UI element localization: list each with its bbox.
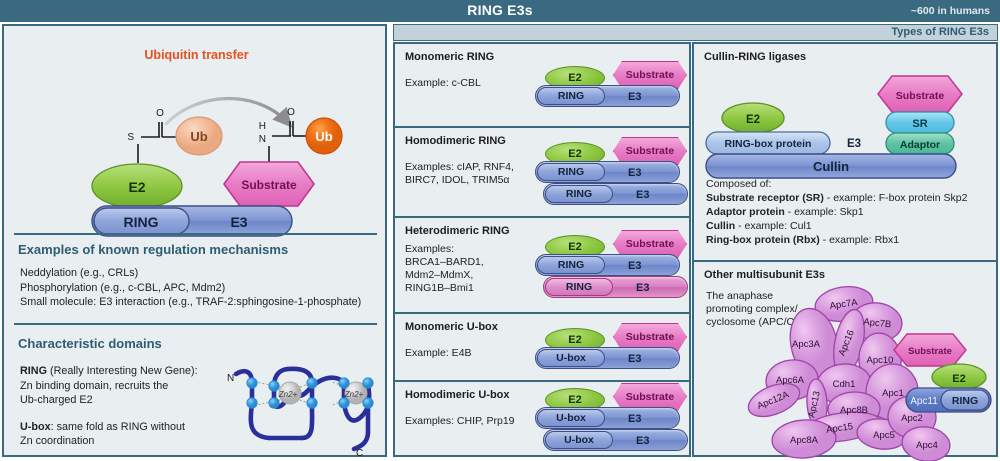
- sr-label: SR: [912, 118, 927, 130]
- ring-definition-line3: Ub-charged E2: [20, 393, 235, 408]
- e3-capsule: RINGE3: [543, 276, 688, 298]
- apc-subunit-label: Apc8B: [840, 405, 868, 416]
- divider-domains: [14, 323, 377, 325]
- component-example: - example: Cul1: [735, 220, 811, 232]
- apc-subunit-label: Apc1: [882, 388, 904, 399]
- regulation-list: Neddylation (e.g., CRLs) Phosphorylation…: [20, 266, 361, 310]
- regulation-item: Phosphorylation (e.g., c-CBL, APC, Mdm2): [20, 281, 361, 296]
- e3-label: E3: [230, 214, 247, 230]
- apc-substrate-label: Substrate: [908, 346, 952, 357]
- type-row: Heterodimeric RINGExamples:BRCA1–BARD1,M…: [395, 218, 689, 314]
- type-example-line: RING1B–Bmi1: [405, 282, 484, 295]
- crl-section: Cullin-RING ligases: [694, 44, 996, 262]
- multisubunit-column: Cullin-RING ligases: [692, 42, 998, 457]
- type-examples: Examples:BRCA1–BARD1,Mdm2–MdmX,RING1B–Bm…: [405, 243, 484, 295]
- spacer: [20, 408, 235, 420]
- type-example-line: BRCA1–BARD1,: [405, 256, 484, 269]
- type-title: Monomeric RING: [405, 51, 494, 63]
- apc11-label: Apc11: [910, 396, 938, 407]
- catalytic-domain-label: RING: [537, 163, 605, 181]
- c-terminus-label: C: [356, 448, 363, 459]
- type-row: Homodimeric U-boxExamples: CHIP, Prp19E2…: [395, 382, 689, 455]
- type-title: Heterodimeric RING: [405, 225, 510, 237]
- page-title: RING E3s: [0, 0, 1000, 22]
- type-example-line: Examples: CHIP, Prp19: [405, 415, 515, 428]
- composed-of-label: Composed of:: [706, 177, 967, 191]
- regulation-item: Neddylation (e.g., CRLs): [20, 266, 361, 281]
- type-diagram: E2SubstrateU-boxE3: [535, 314, 690, 382]
- catalytic-domain-label: U-box: [537, 409, 605, 427]
- type-diagram: E2SubstrateU-boxE3U-boxE3: [535, 382, 690, 455]
- regulation-heading: Examples of known regulation mechanisms: [18, 242, 288, 257]
- ubox-definition-line2: Zn coordination: [20, 434, 235, 449]
- type-title: Homodimeric U-box: [405, 389, 510, 401]
- apc-subunit-label: Apc4: [916, 440, 938, 451]
- type-example-line: Example: E4B: [405, 347, 472, 360]
- substrate-label: Substrate: [241, 178, 297, 192]
- ubox-definition: U-box: same fold as RING without: [20, 420, 235, 435]
- e3-body-label: E3: [628, 353, 641, 365]
- apc-subunit-label: Apc3A: [792, 339, 821, 350]
- divider-regulation: [14, 233, 377, 235]
- types-banner: Types of RING E3s: [393, 24, 998, 41]
- ring-term-rest: (Really Interesting New Gene):: [47, 365, 198, 377]
- crl-composition: Composed of: Substrate receptor (SR) - e…: [706, 177, 967, 247]
- ring-crossbrace-diagram: Zn2+ Zn2+ N C: [222, 356, 382, 461]
- catalytic-domain-label: RING: [537, 87, 605, 105]
- e3-body-label: E3: [628, 413, 641, 425]
- e3-body-label: E3: [628, 91, 641, 103]
- zinc-coordination-svg: Zn2+ Zn2+ N C: [222, 356, 382, 461]
- type-examples: Examples: cIAP, RNF4,BIRC7, IDOL, TRIM5α: [405, 161, 514, 187]
- figure-header: RING E3s ~600 in humans: [0, 0, 1000, 22]
- crl-diagram: Substrate SR Adaptor E2 RING-box protein…: [696, 66, 996, 176]
- ub-acceptor-label: Ub: [315, 129, 332, 144]
- atom-label-sulfur: S: [127, 132, 134, 143]
- e3-body-label: E3: [636, 435, 649, 447]
- apc-subunit-label: Apc5: [873, 430, 895, 441]
- apc-subunit-label: Apc8A: [790, 435, 819, 446]
- type-title: Monomeric U-box: [405, 321, 498, 333]
- apc-subunit-label: Apc10: [867, 355, 894, 366]
- e3-body-label: E3: [628, 167, 641, 179]
- ubiquitin-transfer-diagram: S O Ub N H O Ub: [4, 66, 389, 231]
- regulation-item: Small molecule: E3 interaction (e.g., TR…: [20, 295, 361, 310]
- ubox-term-rest: : same fold as RING without: [51, 421, 185, 433]
- atom-label-oxygen-donor: O: [156, 108, 164, 119]
- ubox-term: U-box: [20, 421, 51, 433]
- transfer-chemistry-svg: S O Ub N H O Ub: [4, 66, 389, 231]
- crl-e2-label: E2: [746, 114, 760, 126]
- atom-label-nitrogen: N: [259, 134, 266, 145]
- component-example: - example: Skp1: [785, 206, 864, 218]
- zinc-label: Zn2+: [278, 390, 298, 399]
- apc-subunit-label: Cdh1: [833, 379, 856, 390]
- types-column: Monomeric RINGExample: c-CBLE2SubstrateR…: [393, 42, 691, 457]
- type-examples: Examples: CHIP, Prp19: [405, 415, 515, 428]
- apc-subunit-label: Apc2: [901, 413, 923, 424]
- atom-label-oxygen-acceptor: O: [287, 107, 295, 118]
- component-example: - example: Rbx1: [820, 234, 899, 246]
- figure-root: RING E3s ~600 in humans Ubiquitin transf…: [0, 0, 1000, 459]
- catalytic-domain-label: U-box: [537, 349, 605, 367]
- e3-capsule: U-boxE3: [535, 347, 680, 369]
- crl-component: Ring-box protein (Rbx) - example: Rbx1: [706, 233, 967, 247]
- atom-label-hydrogen: H: [259, 121, 266, 132]
- domains-description: RING (Really Interesting New Gene): Zn b…: [20, 364, 235, 449]
- cullin-label: Cullin: [813, 159, 849, 174]
- type-example-line: Mdm2–MdmX,: [405, 269, 484, 282]
- type-diagram: E2SubstrateRINGE3RINGE3: [535, 128, 690, 218]
- component-example: - example: F-box protein Skp2: [824, 192, 968, 204]
- catalytic-domain-label: U-box: [545, 431, 613, 449]
- rbx-label: RING-box protein: [725, 138, 812, 150]
- type-title: Homodimeric RING: [405, 135, 506, 147]
- ring-definition: RING (Really Interesting New Gene):: [20, 364, 235, 379]
- e3-capsule: RINGE3: [543, 183, 688, 205]
- apc-complex-diagram: Apc7A Apc7B Apc3A Apc16 Apc10 Apc6A Cdh1…: [694, 272, 994, 452]
- type-row: Monomeric U-boxExample: E4BE2SubstrateU-…: [395, 314, 689, 382]
- type-examples: Example: E4B: [405, 347, 472, 360]
- type-diagram: E2SubstrateRINGE3: [535, 44, 690, 128]
- e3-body-label: E3: [636, 282, 649, 294]
- type-examples: Example: c-CBL: [405, 77, 481, 90]
- ubiquitin-transfer-title: Ubiquitin transfer: [4, 48, 389, 62]
- e2-label: E2: [128, 179, 145, 195]
- left-panel: Ubiquitin transfer: [2, 24, 387, 457]
- component-name: Substrate receptor (SR): [706, 192, 824, 204]
- catalytic-domain-label: RING: [545, 185, 613, 203]
- ring-definition-line2: Zn binding domain, recruits the: [20, 379, 235, 394]
- apc-ring-label: RING: [952, 395, 978, 407]
- apc-e2-label: E2: [952, 373, 965, 385]
- e3-body-label: E3: [628, 260, 641, 272]
- crl-component: Adaptor protein - example: Skp1: [706, 205, 967, 219]
- ring-label: RING: [124, 214, 159, 230]
- type-example-line: BIRC7, IDOL, TRIM5α: [405, 174, 514, 187]
- component-name: Adaptor protein: [706, 206, 785, 218]
- crl-component: Substrate receptor (SR) - example: F-box…: [706, 191, 967, 205]
- type-row: Monomeric RINGExample: c-CBLE2SubstrateR…: [395, 44, 689, 128]
- e3-capsule: RINGE3: [535, 161, 680, 183]
- e3-body-label: E3: [636, 189, 649, 201]
- type-example-line: Examples: cIAP, RNF4,: [405, 161, 514, 174]
- type-example-line: Examples:: [405, 243, 484, 256]
- e3-capsule: U-boxE3: [535, 407, 680, 429]
- type-example-line: Example: c-CBL: [405, 77, 481, 90]
- component-name: Cullin: [706, 220, 735, 232]
- crl-substrate-label: Substrate: [896, 90, 945, 102]
- type-diagram: E2SubstrateRINGE3RINGE3: [535, 218, 690, 314]
- ub-donor-label: Ub: [190, 129, 207, 144]
- e3-capsule: RINGE3: [535, 254, 680, 276]
- e3-capsule: U-boxE3: [543, 429, 688, 451]
- component-name: Ring-box protein (Rbx): [706, 234, 820, 246]
- domains-heading: Characteristic domains: [18, 336, 162, 351]
- type-row: Homodimeric RINGExamples: cIAP, RNF4,BIR…: [395, 128, 689, 218]
- ring-term: RING: [20, 365, 47, 377]
- crl-e3-label: E3: [847, 138, 861, 150]
- e3-capsule: RINGE3: [535, 85, 680, 107]
- n-terminus-label: N: [227, 373, 234, 384]
- header-count-note: ~600 in humans: [911, 0, 990, 22]
- catalytic-domain-label: RING: [537, 256, 605, 274]
- crl-component: Cullin - example: Cul1: [706, 219, 967, 233]
- adaptor-label: Adaptor: [900, 139, 940, 151]
- catalytic-domain-label: RING: [545, 278, 613, 296]
- apc-section: Other multisubunit E3s The anaphase prom…: [694, 262, 996, 455]
- crl-title: Cullin-RING ligases: [704, 51, 806, 63]
- types-banner-label: Types of RING E3s: [891, 25, 989, 40]
- zinc-label: Zn2+: [344, 390, 364, 399]
- apc-subunit-label: Apc6A: [776, 375, 805, 386]
